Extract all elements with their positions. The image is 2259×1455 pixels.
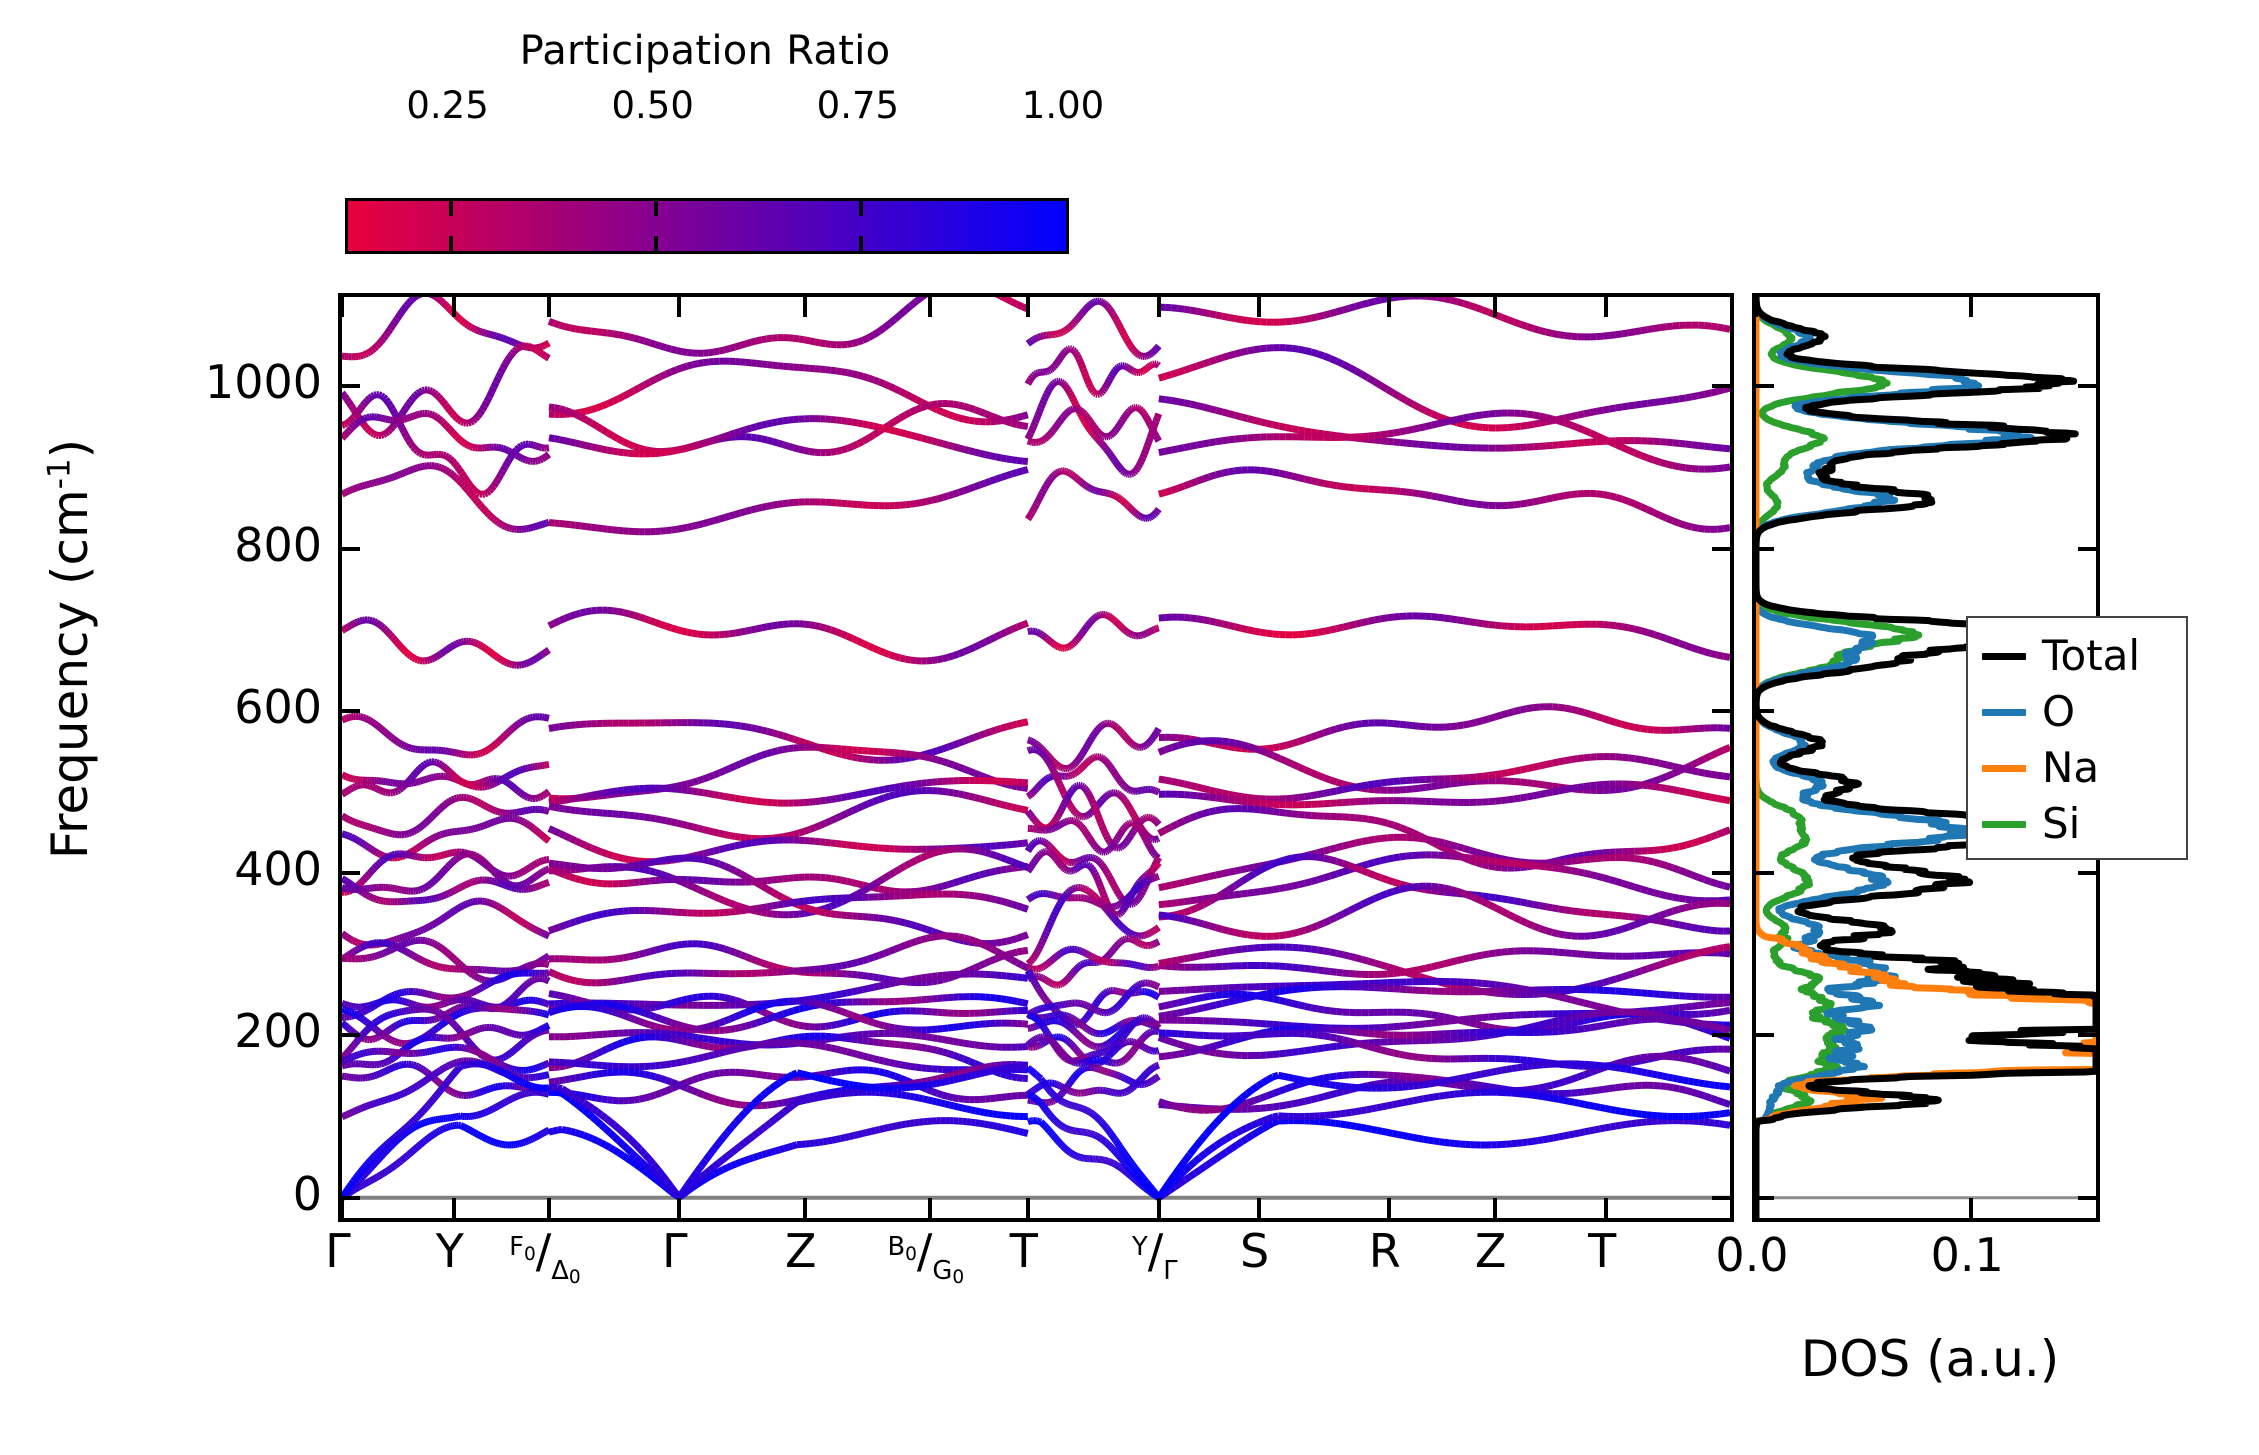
band-y-tick-mark-right: [1712, 1196, 1730, 1200]
dos-y-tick-mark: [2078, 871, 2096, 875]
dos-x-tick-mark: [1754, 1198, 1758, 1218]
legend-item-total[interactable]: Total: [1968, 628, 2186, 684]
band-x-tick-top: [928, 297, 932, 317]
band-x-tick-bottom: [677, 1198, 681, 1218]
band-x-tick-labels: ΓYF0/Δ0ΓZB0/G0TY/ΓSRZT: [338, 1228, 1726, 1328]
band-x-tick-label: Y/Γ: [1132, 1228, 1178, 1274]
band-x-tick-top: [1157, 297, 1161, 317]
band-y-tick-mark: [342, 384, 360, 388]
band-x-tick-label: Γ: [325, 1228, 351, 1274]
colorbar-tick-mark: [859, 201, 863, 216]
colorbar-tick-label: 1.00: [1022, 84, 1104, 127]
band-plot-area: [342, 297, 1730, 1218]
band-x-tick-bottom: [340, 1198, 344, 1218]
band-y-tick-mark: [342, 1033, 360, 1037]
dos-y-tick-mark: [2078, 1196, 2096, 1200]
band-x-tick-top: [1026, 297, 1030, 317]
band-structure-plot: [342, 297, 1730, 1218]
band-x-tick-top: [1493, 297, 1497, 317]
dos-y-tick-mark: [1756, 547, 1774, 551]
legend-label: O: [2042, 691, 2075, 733]
colorbar-tick-mark: [654, 201, 658, 216]
colorbar-gradient: [348, 201, 1066, 251]
legend-swatch-total: [1982, 653, 2026, 660]
band-x-tick-bottom: [452, 1198, 456, 1218]
colorbar-title: Participation Ratio: [345, 28, 1065, 74]
colorbar-tick-mark: [859, 236, 863, 251]
legend-swatch-o: [1982, 709, 2026, 716]
band-y-tick-mark-right: [1712, 384, 1730, 388]
dos-x-tick-mark: [1969, 1198, 1973, 1218]
figure-canvas: Participation Ratio 0.250.500.751.00 Fre…: [0, 0, 2259, 1455]
dos-y-tick-mark: [1756, 384, 1774, 388]
dos-x-axis-label: DOS (a.u.): [1700, 1330, 2160, 1388]
band-x-tick-top: [340, 297, 344, 317]
colorbar-tick-labels: 0.250.500.751.00: [345, 84, 1063, 128]
dos-x-tick-label: 0.1: [1931, 1228, 2004, 1282]
band-y-tick-mark-right: [1712, 1033, 1730, 1037]
band-x-tick-top: [452, 297, 456, 317]
dos-y-tick-mark: [2078, 384, 2096, 388]
band-x-tick-bottom: [1493, 1198, 1497, 1218]
band-y-tick-label: 600: [234, 680, 322, 734]
band-x-tick-label: Z: [1475, 1228, 1507, 1274]
legend-label: Na: [2042, 747, 2099, 789]
band-y-tick-label: 800: [234, 518, 322, 572]
band-x-tick-top: [1257, 297, 1261, 317]
dos-x-tick-mark: [1969, 297, 1973, 317]
dos-y-tick-mark: [1756, 871, 1774, 875]
band-y-tick-mark-right: [1712, 547, 1730, 551]
dos-y-tick-mark: [1756, 1033, 1774, 1037]
colorbar-tick-mark: [449, 236, 453, 251]
dos-legend: TotalONaSi: [1966, 616, 2188, 860]
band-y-tick-mark: [342, 709, 360, 713]
dos-y-tick-mark: [2078, 547, 2096, 551]
band-x-tick-top: [677, 297, 681, 317]
dos-y-tick-mark: [1756, 1196, 1774, 1200]
band-x-tick-bottom: [1604, 1198, 1608, 1218]
legend-label: Si: [2042, 803, 2080, 845]
dos-x-tick-labels: 0.00.1: [1752, 1228, 2092, 1298]
legend-item-o[interactable]: O: [1968, 684, 2186, 740]
band-x-tick-label: Z: [785, 1228, 817, 1274]
band-x-tick-bottom: [547, 1198, 551, 1218]
band-x-tick-top: [803, 297, 807, 317]
legend-swatch-na: [1982, 765, 2026, 772]
dos-y-tick-mark: [1756, 709, 1774, 713]
band-x-tick-label: R: [1369, 1228, 1401, 1274]
band-x-tick-bottom: [1387, 1198, 1391, 1218]
band-y-tick-label: 200: [234, 1004, 322, 1058]
band-x-tick-top: [1604, 297, 1608, 317]
colorbar: [345, 198, 1069, 254]
band-x-tick-top: [1387, 297, 1391, 317]
colorbar-tick-label: 0.50: [612, 84, 694, 127]
band-y-tick-mark: [342, 547, 360, 551]
legend-label: Total: [2042, 635, 2140, 677]
band-y-tick-mark: [342, 871, 360, 875]
band-x-tick-label: Y: [436, 1228, 464, 1274]
band-x-tick-label: T: [1588, 1228, 1616, 1274]
dos-x-tick-label: 0.0: [1715, 1228, 1788, 1282]
colorbar-tick-label: 0.25: [406, 84, 488, 127]
band-y-tick-mark: [342, 1196, 360, 1200]
band-y-tick-mark-right: [1712, 709, 1730, 713]
band-y-tick-labels: 02004006008001000: [0, 293, 322, 1214]
band-x-tick-top: [547, 297, 551, 317]
band-y-tick-label: 1000: [205, 355, 322, 409]
band-x-tick-label: S: [1240, 1228, 1269, 1274]
legend-item-na[interactable]: Na: [1968, 740, 2186, 796]
band-y-tick-mark-right: [1712, 871, 1730, 875]
band-x-tick-bottom: [1157, 1198, 1161, 1218]
band-x-tick-label: F0/Δ0: [509, 1228, 581, 1274]
band-x-tick-bottom: [1026, 1198, 1030, 1218]
colorbar-tick-mark: [654, 236, 658, 251]
band-x-tick-label: Γ: [662, 1228, 688, 1274]
band-x-tick-bottom: [928, 1198, 932, 1218]
legend-swatch-si: [1982, 821, 2026, 828]
band-y-tick-label: 0: [293, 1167, 322, 1221]
legend-item-si[interactable]: Si: [1968, 796, 2186, 852]
band-x-tick-bottom: [1257, 1198, 1261, 1218]
band-x-tick-label: T: [1010, 1228, 1038, 1274]
band-y-tick-label: 400: [234, 842, 322, 896]
dos-y-tick-mark: [2078, 1033, 2096, 1037]
band-x-tick-label: B0/G0: [887, 1228, 964, 1274]
dos-x-tick-mark: [1754, 297, 1758, 317]
colorbar-tick-mark: [449, 201, 453, 216]
colorbar-tick-label: 0.75: [817, 84, 899, 127]
band-structure-axes: [338, 293, 1734, 1222]
band-x-tick-bottom: [803, 1198, 807, 1218]
